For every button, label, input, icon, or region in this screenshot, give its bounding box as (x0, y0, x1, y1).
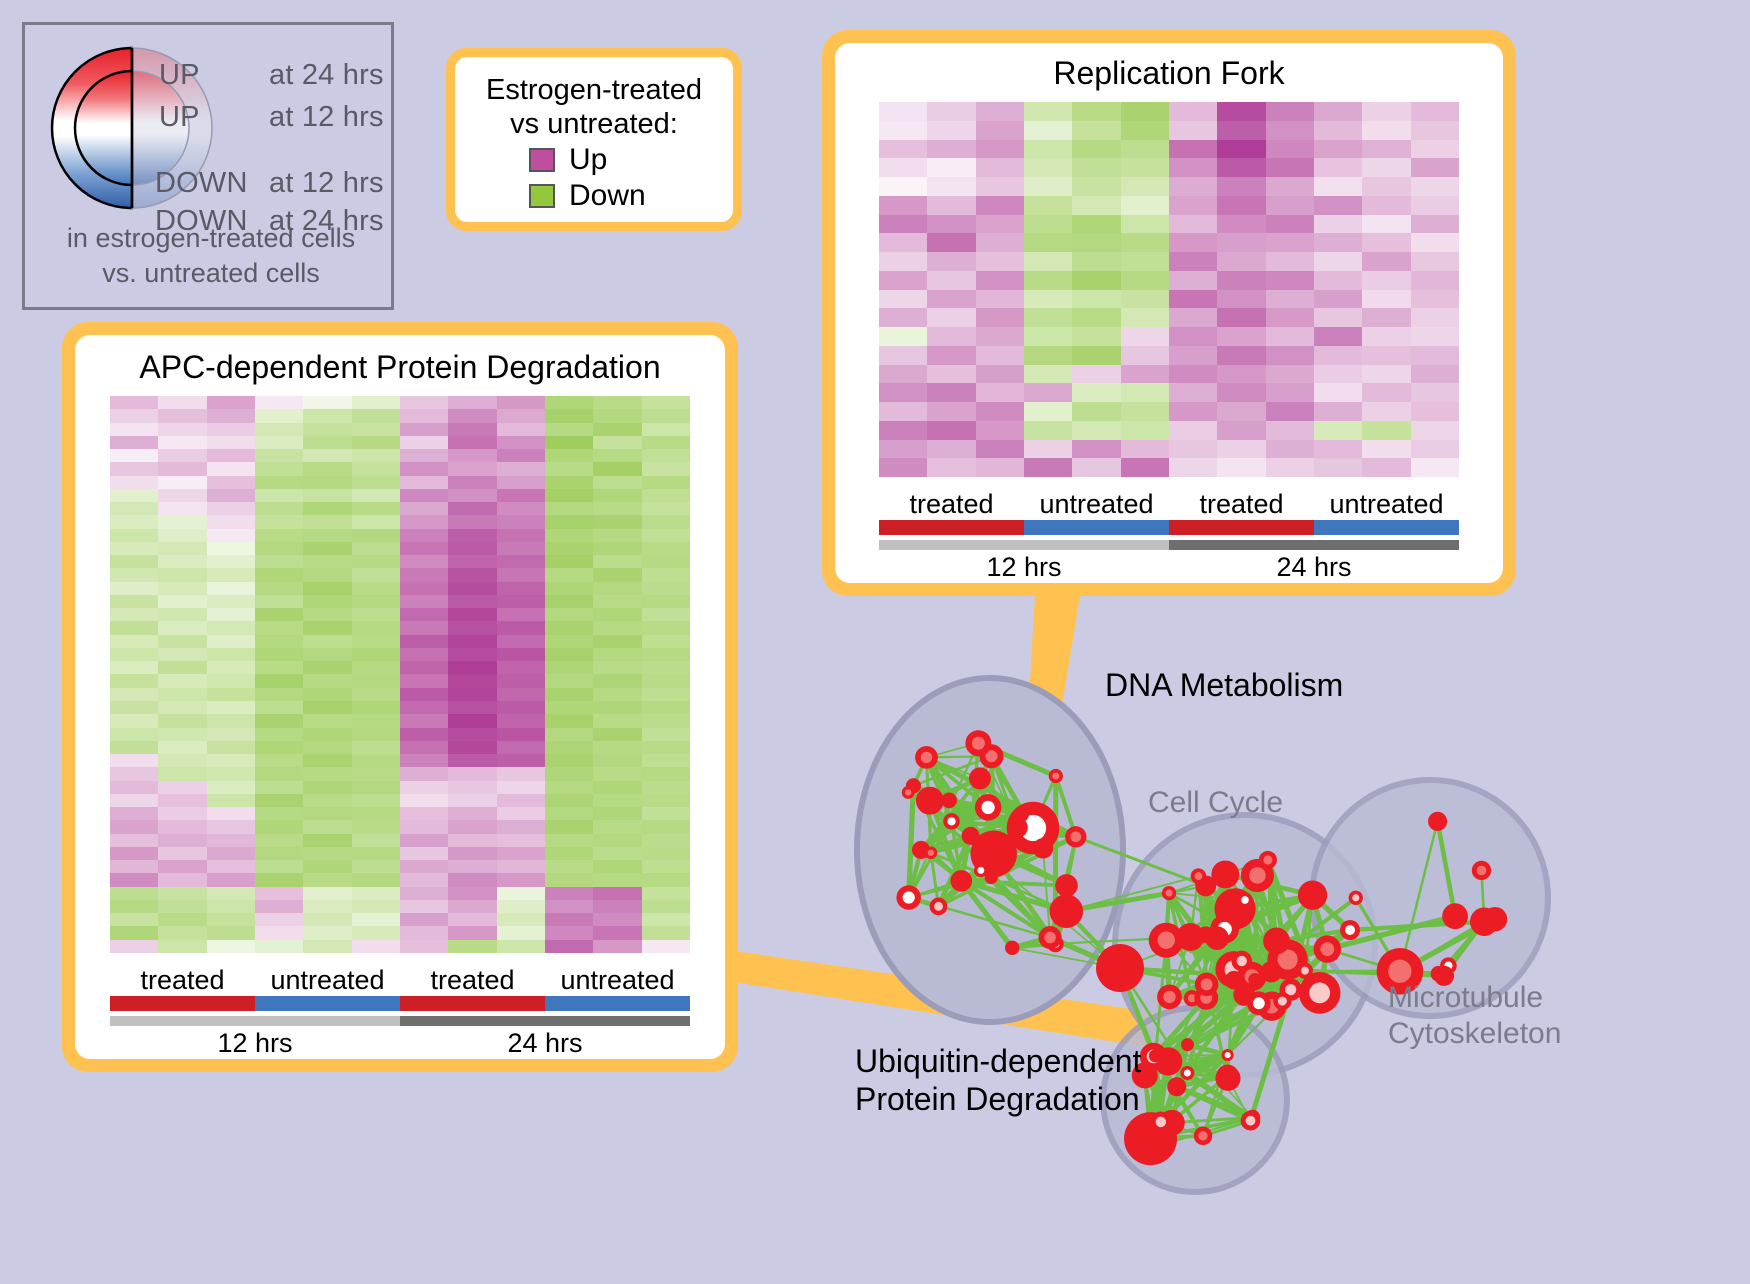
heatmap-cell (448, 595, 496, 608)
heatmap-cell (642, 820, 690, 833)
heatmap-cell (303, 423, 351, 436)
heatmap-cell (352, 701, 400, 714)
heatmap-cell (352, 728, 400, 741)
heatmap-cell (1217, 365, 1265, 384)
heatmap-cell (1314, 233, 1362, 252)
heatmap-cell (448, 568, 496, 581)
heatmap-cell (158, 900, 206, 913)
heatmap-cell (545, 529, 593, 542)
heatmap-cell (1362, 121, 1410, 140)
key-label-down: Down (569, 179, 646, 213)
heatmap-cell (1121, 308, 1169, 327)
heatmap-cell (642, 515, 690, 528)
heatmap-cell (255, 476, 303, 489)
heatmap-cell (207, 462, 255, 475)
heatmap-cell (1266, 215, 1314, 234)
heatmap-cell (1169, 252, 1217, 271)
heatmap-cell (1314, 140, 1362, 159)
heatmap-cell (207, 701, 255, 714)
axis-block-apc: treateduntreatedtreateduntreated12 hrs24… (110, 965, 690, 1059)
heatmap-cell (448, 820, 496, 833)
heatmap-cell (303, 436, 351, 449)
heatmap-cell (1121, 458, 1169, 477)
heatmap-cell (497, 674, 545, 687)
wheel-row-0-label: UP (159, 59, 200, 92)
heatmap-cell (927, 196, 975, 215)
network-node[interactable] (1263, 928, 1290, 955)
heatmap-cell (642, 555, 690, 568)
heatmap-cell (1072, 271, 1120, 290)
time-colour-segment (1169, 540, 1459, 550)
heatmap-cell (448, 873, 496, 886)
axis-block-replication-fork: treateduntreatedtreateduntreated12 hrs24… (879, 489, 1459, 583)
heatmap-cell (303, 913, 351, 926)
heatmap-cell (303, 621, 351, 634)
heatmap-cell (207, 926, 255, 939)
network-node-core (934, 902, 943, 911)
heatmap-cell (303, 926, 351, 939)
network-node[interactable] (1216, 1065, 1238, 1087)
heatmap-cell (1266, 421, 1314, 440)
network-node[interactable] (1033, 838, 1053, 858)
heatmap-cell (545, 860, 593, 873)
heatmap-cell (400, 529, 448, 542)
heatmap-cell (976, 365, 1024, 384)
heatmap-cell (1411, 308, 1459, 327)
heatmap-cell (303, 834, 351, 847)
heatmap-cell (927, 102, 975, 121)
heatmap-cell (1266, 346, 1314, 365)
heatmap-cell (497, 754, 545, 767)
heatmap-cell (497, 568, 545, 581)
heatmap-cell (303, 476, 351, 489)
heatmap-cell (642, 674, 690, 687)
network-node[interactable] (1181, 1038, 1194, 1051)
heatmap-cell (1266, 327, 1314, 346)
heatmap-cell (879, 440, 927, 459)
heatmap-cell (352, 502, 400, 515)
heatmap-cell (1266, 290, 1314, 309)
heatmap-cell (1314, 121, 1362, 140)
network-node-core (1477, 866, 1487, 876)
network-node[interactable] (1261, 961, 1282, 982)
heatmap-cell (1266, 177, 1314, 196)
key-title-line1: Estrogen-treated (467, 73, 721, 107)
heatmap-cell (642, 608, 690, 621)
heatmap-cell (593, 926, 641, 939)
heatmap-cell (158, 714, 206, 727)
network-node[interactable] (941, 793, 957, 809)
network-node[interactable] (1205, 926, 1229, 950)
network-node[interactable] (1145, 1134, 1169, 1158)
network-node[interactable] (1248, 973, 1262, 987)
heatmap-cell (1362, 383, 1410, 402)
heatmap-cell (303, 489, 351, 502)
heatmap-cell (642, 476, 690, 489)
heatmap-cell (642, 396, 690, 409)
time-colour-bar (879, 540, 1459, 550)
heatmap-cell (448, 834, 496, 847)
heatmap-cell (1169, 177, 1217, 196)
heatmap-cell (352, 568, 400, 581)
heatmap-cell (110, 515, 158, 528)
heatmap-cell (593, 396, 641, 409)
heatmap-cell (497, 489, 545, 502)
heatmap-cell (1024, 290, 1072, 309)
heatmap-cell (1121, 196, 1169, 215)
network-node[interactable] (916, 787, 944, 815)
heatmap-cell (110, 489, 158, 502)
heatmap-cell (255, 741, 303, 754)
colour-wheel-legend: UP at 24 hrs UP at 12 hrs DOWN at 12 hrs… (22, 22, 394, 310)
heatmap-cell (1314, 365, 1362, 384)
heatmap-cell (1169, 346, 1217, 365)
heatmap-cell (545, 728, 593, 741)
heatmap-cell (352, 661, 400, 674)
heatmap-cell (158, 502, 206, 515)
heatmap-cell (110, 887, 158, 900)
heatmap-cell (303, 900, 351, 913)
heatmap-cell (110, 781, 158, 794)
heatmap-cell (642, 688, 690, 701)
heatmap-cell (255, 582, 303, 595)
key-row-up: Up (529, 143, 721, 177)
heatmap-cell (1266, 402, 1314, 421)
condition-label: treated (879, 489, 1024, 520)
heatmap-cell (1169, 440, 1217, 459)
heatmap-cell (1314, 196, 1362, 215)
heatmap-cell (255, 595, 303, 608)
heatmap-cell (879, 421, 927, 440)
heatmap-cell (545, 887, 593, 900)
heatmap-cell (255, 754, 303, 767)
heatmap-cell (158, 701, 206, 714)
heatmap-cell (545, 714, 593, 727)
network-node-core (1052, 772, 1059, 779)
heatmap-cell (255, 807, 303, 820)
up-down-key-box: Estrogen-treated vs untreated: Up Down (446, 48, 742, 231)
network-node[interactable] (1149, 1049, 1162, 1062)
heatmap-cell (1411, 271, 1459, 290)
network-node[interactable] (969, 767, 991, 789)
heatmap-cell (158, 582, 206, 595)
network-node[interactable] (1007, 817, 1028, 838)
heatmap-cell (593, 502, 641, 515)
heatmap-cell (642, 781, 690, 794)
heatmap-cell (255, 489, 303, 502)
heatmap-cell (158, 449, 206, 462)
heatmap-cell (110, 529, 158, 542)
heatmap-cell (497, 688, 545, 701)
heatmap-cell (545, 608, 593, 621)
heatmap-cell (303, 608, 351, 621)
heatmap-cell (497, 741, 545, 754)
network-node[interactable] (1176, 923, 1204, 951)
heatmap-cell (593, 847, 641, 860)
heatmap-cell (1072, 102, 1120, 121)
heatmap-cell (593, 635, 641, 648)
heatmap-cell (593, 728, 641, 741)
heatmap-cell (400, 714, 448, 727)
heatmap-cell (1024, 271, 1072, 290)
heatmap-cell (1217, 121, 1265, 140)
heatmap-cell (1169, 158, 1217, 177)
heatmap-cell (545, 462, 593, 475)
heatmap-cell (352, 834, 400, 847)
heatmap-cell (1362, 458, 1410, 477)
heatmap-cell (352, 940, 400, 953)
condition-label: treated (110, 965, 255, 996)
heatmap-cell (352, 515, 400, 528)
heatmap-cell (545, 940, 593, 953)
heatmap-cell (207, 913, 255, 926)
heatmap-cell (927, 271, 975, 290)
heatmap-cell (110, 674, 158, 687)
heatmap-cell (110, 741, 158, 754)
heatmap-cell (1121, 252, 1169, 271)
time-colour-segment (110, 1016, 400, 1026)
heatmap-cell (976, 121, 1024, 140)
network-node-core (903, 891, 915, 903)
heatmap-cell (448, 449, 496, 462)
heatmap-cell (110, 794, 158, 807)
heatmap-cell (497, 940, 545, 953)
heatmap-cell (400, 423, 448, 436)
heatmap-cell (1217, 252, 1265, 271)
heatmap-cell (1266, 271, 1314, 290)
heatmap-cell (1072, 290, 1120, 309)
heatmap-cell (400, 728, 448, 741)
heatmap-cell (110, 728, 158, 741)
heatmap-cell (1314, 421, 1362, 440)
heatmap-cell (593, 834, 641, 847)
network-node[interactable] (1211, 860, 1239, 888)
heatmap-cell (448, 741, 496, 754)
condition-colour-bar (879, 520, 1459, 535)
network-node[interactable] (962, 827, 980, 845)
network-node[interactable] (1483, 907, 1507, 931)
heatmap-cell (497, 728, 545, 741)
heatmap-cell (352, 635, 400, 648)
heatmap-cell (642, 502, 690, 515)
heatmap-cell (545, 781, 593, 794)
heatmap-cell (1314, 458, 1362, 477)
heatmap-cell (158, 489, 206, 502)
heatmap-cell (1024, 252, 1072, 271)
heatmap-cell (110, 396, 158, 409)
cluster-label-mt-line1: Microtubule (1388, 980, 1561, 1016)
heatmap-cell (352, 754, 400, 767)
heatmap-cell (303, 568, 351, 581)
heatmap-cell (207, 794, 255, 807)
heatmap-cell (207, 767, 255, 780)
heatmap-cell (1362, 102, 1410, 121)
network-node-core (1263, 855, 1272, 864)
heatmap-cell (110, 688, 158, 701)
heatmap-cell (1362, 346, 1410, 365)
heatmap-cell (400, 847, 448, 860)
network-node[interactable] (950, 870, 972, 892)
heatmap-cell (158, 568, 206, 581)
heatmap-cell (1121, 290, 1169, 309)
heatmap-cell (497, 767, 545, 780)
heatmap-cell (352, 781, 400, 794)
heatmap-cell (497, 887, 545, 900)
heatmap-cell (545, 741, 593, 754)
heatmap-cell (352, 476, 400, 489)
heatmap-cell (1362, 402, 1410, 421)
heatmap-cell (303, 728, 351, 741)
heatmap-cell (255, 887, 303, 900)
heatmap-cell (1024, 121, 1072, 140)
heatmap-cell (448, 714, 496, 727)
heatmap-cell (545, 423, 593, 436)
heatmap-cell (158, 635, 206, 648)
heatmap-cell (158, 648, 206, 661)
heatmap-cell (593, 781, 641, 794)
heatmap-cell (976, 102, 1024, 121)
heatmap-cell (255, 568, 303, 581)
network-node[interactable] (1442, 903, 1468, 929)
heatmap-cell (642, 542, 690, 555)
heatmap-cell (1362, 440, 1410, 459)
heatmap-cell (400, 767, 448, 780)
network-node[interactable] (1298, 881, 1327, 910)
heatmap-cell (400, 489, 448, 502)
network-node[interactable] (1167, 1077, 1186, 1096)
heatmap-cell (255, 423, 303, 436)
network-node[interactable] (1055, 874, 1078, 897)
heatmap-cell (976, 402, 1024, 421)
network-node-core (1165, 890, 1172, 897)
heatmap-cell (448, 502, 496, 515)
heatmap-cell (545, 913, 593, 926)
condition-colour-segment (1024, 520, 1169, 535)
heatmap-cell (1362, 271, 1410, 290)
heatmap-cell (158, 608, 206, 621)
heatmap-cell (400, 913, 448, 926)
wheel-row-2-time: at 12 hrs (269, 167, 384, 200)
heatmap-cell (110, 648, 158, 661)
heatmap-cell (1024, 365, 1072, 384)
network-node-core (977, 867, 984, 874)
heatmap-cell (207, 608, 255, 621)
heatmap-cell (1169, 215, 1217, 234)
heatmap-cell (158, 409, 206, 422)
heatmap-cell (927, 215, 975, 234)
heatmap-cell (976, 233, 1024, 252)
heatmap-cell (545, 502, 593, 515)
heatmap-cell (158, 741, 206, 754)
heatmap-cell (642, 462, 690, 475)
heatmap-cell (448, 767, 496, 780)
condition-labels: treateduntreatedtreateduntreated (879, 489, 1459, 520)
heatmap-cell (1411, 421, 1459, 440)
heatmap-cell (642, 648, 690, 661)
heatmap-cell (1266, 140, 1314, 159)
heatmap-cell (1217, 440, 1265, 459)
network-node[interactable] (1049, 894, 1083, 928)
heatmap-cell (1072, 346, 1120, 365)
heatmap-cell (1121, 102, 1169, 121)
heatmap-cell (927, 177, 975, 196)
heatmap-cell (593, 648, 641, 661)
heatmap-cell (1411, 140, 1459, 159)
heatmap-cell (545, 436, 593, 449)
heatmap-cell (545, 807, 593, 820)
heatmap-cell (400, 701, 448, 714)
heatmap-cell (400, 820, 448, 833)
network-node-core (1198, 1131, 1207, 1140)
heatmap-cell (642, 595, 690, 608)
network-node[interactable] (1096, 944, 1144, 992)
time-labels: 12 hrs24 hrs (879, 550, 1459, 583)
heatmap-cell (448, 423, 496, 436)
heatmap-cell (497, 714, 545, 727)
heatmap-cell (642, 741, 690, 754)
network-node[interactable] (1225, 971, 1244, 990)
heatmap-cell (1121, 365, 1169, 384)
network-node[interactable] (1005, 941, 1019, 955)
heatmap-cell (1314, 308, 1362, 327)
heatmap-cell (255, 860, 303, 873)
heatmap-cell (448, 409, 496, 422)
heatmap-cell (1411, 215, 1459, 234)
heatmap-cell (593, 873, 641, 886)
heatmap-cell (1169, 290, 1217, 309)
heatmap-cell (303, 714, 351, 727)
heatmap-cell (497, 555, 545, 568)
heatmap-cell (352, 529, 400, 542)
network-node-core (1070, 831, 1081, 842)
condition-colour-bar (110, 996, 690, 1011)
heatmap-cell (497, 781, 545, 794)
heatmap-cell (110, 847, 158, 860)
heatmap-cell (352, 887, 400, 900)
heatmap-cell (400, 860, 448, 873)
heatmap-cell (303, 582, 351, 595)
heatmap-cell (593, 674, 641, 687)
heatmap-cell (255, 635, 303, 648)
heatmap-cell (593, 807, 641, 820)
heatmap-cell (1024, 440, 1072, 459)
heatmap-cell (207, 781, 255, 794)
network-node-core (1237, 956, 1247, 966)
heatmap-cell (303, 449, 351, 462)
heatmap-cell (1072, 308, 1120, 327)
heatmap-cell (352, 873, 400, 886)
heatmap-cell (545, 847, 593, 860)
heatmap-cell (303, 502, 351, 515)
heatmap-cell (593, 462, 641, 475)
heatmap-cell (976, 327, 1024, 346)
condition-colour-segment (1169, 520, 1314, 535)
heatmap-cell (1169, 102, 1217, 121)
heatmap-cell (1169, 233, 1217, 252)
network-node-core (1320, 942, 1334, 956)
heatmap-cell (303, 781, 351, 794)
heatmap-cell (1024, 383, 1072, 402)
heatmap-cell (255, 462, 303, 475)
heatmap-cell (303, 873, 351, 886)
heatmap-cell (1411, 252, 1459, 271)
network-node[interactable] (1428, 812, 1447, 831)
heatmap-cell (1169, 365, 1217, 384)
heatmap-cell (158, 820, 206, 833)
heatmap-cell (642, 873, 690, 886)
heatmap-cell (593, 621, 641, 634)
heatmap-cell (1362, 196, 1410, 215)
